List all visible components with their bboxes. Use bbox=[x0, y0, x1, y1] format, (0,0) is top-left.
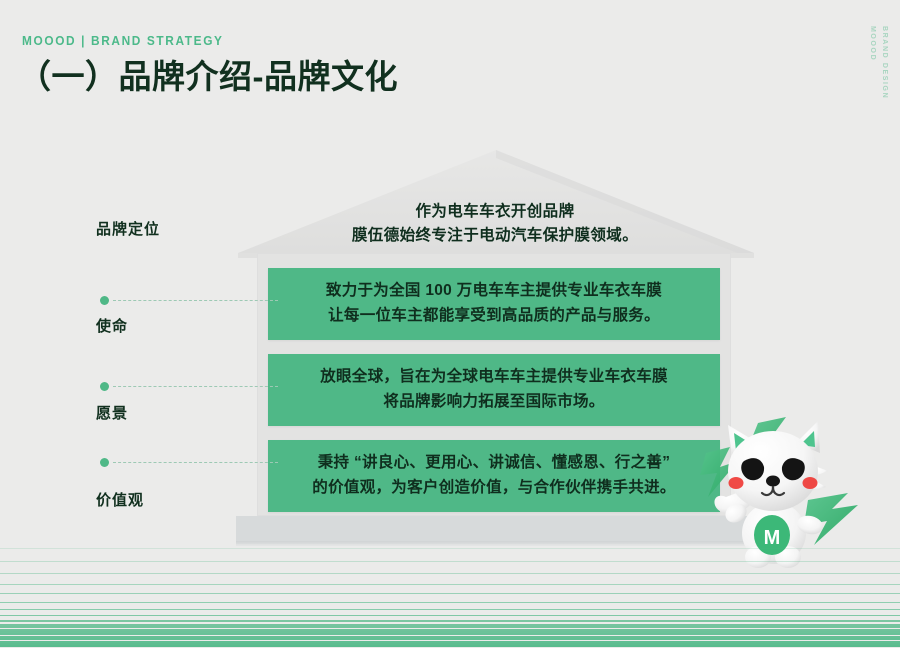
band-values[interactable]: 秉持 “讲良心、更用心、讲诚信、懂感恩、行之善” 的价值观，为客户创造价值，与合… bbox=[268, 440, 720, 512]
decorative-line bbox=[0, 602, 900, 603]
bullet-dot-icon bbox=[100, 458, 109, 467]
decorative-line bbox=[0, 609, 900, 610]
band-vision-line-1: 放眼全球，旨在为全球电车车主提供专业车衣车膜 bbox=[320, 365, 668, 390]
dashed-line bbox=[113, 462, 278, 463]
slide-root: MOOOD | BRAND STRATEGY （一）品牌介绍-品牌文化 BRAN… bbox=[0, 0, 900, 648]
connector-values bbox=[100, 458, 278, 467]
band-vision-line-2: 将品牌影响力拓展至国际市场。 bbox=[320, 390, 668, 415]
decorative-line bbox=[0, 593, 900, 594]
connector-vision bbox=[100, 382, 278, 391]
bullet-dot-icon bbox=[100, 382, 109, 391]
brand-positioning-text: 作为电车车衣开创品牌 膜伍德始终专注于电动汽车保护膜领域。 bbox=[280, 200, 710, 248]
band-vision[interactable]: 放眼全球，旨在为全球电车车主提供专业车衣车膜 将品牌影响力拓展至国际市场。 bbox=[268, 354, 720, 426]
bottom-decorative-lines bbox=[0, 540, 900, 648]
decorative-line bbox=[0, 548, 900, 549]
band-values-text: 秉持 “讲良心、更用心、讲诚信、懂感恩、行之善” 的价值观，为客户创造价值，与合… bbox=[302, 451, 685, 501]
decorative-line bbox=[0, 615, 900, 616]
roof-text-line-2: 膜伍德始终专注于电动汽车保护膜领域。 bbox=[280, 224, 710, 248]
band-vision-text: 放眼全球，旨在为全球电车车主提供专业车衣车膜 将品牌影响力拓展至国际市场。 bbox=[310, 365, 678, 415]
label-mission: 使命 bbox=[96, 315, 128, 336]
decorative-line bbox=[0, 620, 900, 622]
roof-text-line-1: 作为电车车衣开创品牌 bbox=[280, 200, 710, 224]
decorative-line bbox=[0, 561, 900, 562]
band-mission[interactable]: 致力于为全国 100 万电车车主提供专业车衣车膜 让每一位车主都能享受到高品质的… bbox=[268, 268, 720, 340]
mascot-head bbox=[728, 421, 828, 511]
dashed-line bbox=[113, 300, 278, 301]
decorative-line bbox=[0, 584, 900, 585]
band-values-line-2: 的价值观，为客户创造价值，与合作伙伴携手共进。 bbox=[312, 476, 675, 501]
decorative-line bbox=[0, 573, 900, 574]
bullet-dot-icon bbox=[100, 296, 109, 305]
connector-mission bbox=[100, 296, 278, 305]
label-vision: 愿景 bbox=[96, 402, 128, 423]
label-brand-positioning: 品牌定位 bbox=[96, 218, 160, 239]
band-mission-text: 致力于为全国 100 万电车车主提供专业车衣车膜 让每一位车主都能享受到高品质的… bbox=[316, 279, 672, 329]
dashed-line bbox=[113, 386, 278, 387]
band-mission-line-2: 让每一位车主都能享受到高品质的产品与服务。 bbox=[326, 304, 662, 329]
band-mission-line-1: 致力于为全国 100 万电车车主提供专业车衣车膜 bbox=[326, 279, 662, 304]
band-values-line-1: 秉持 “讲良心、更用心、讲诚信、懂感恩、行之善” bbox=[312, 451, 675, 476]
label-values: 价值观 bbox=[96, 489, 144, 510]
